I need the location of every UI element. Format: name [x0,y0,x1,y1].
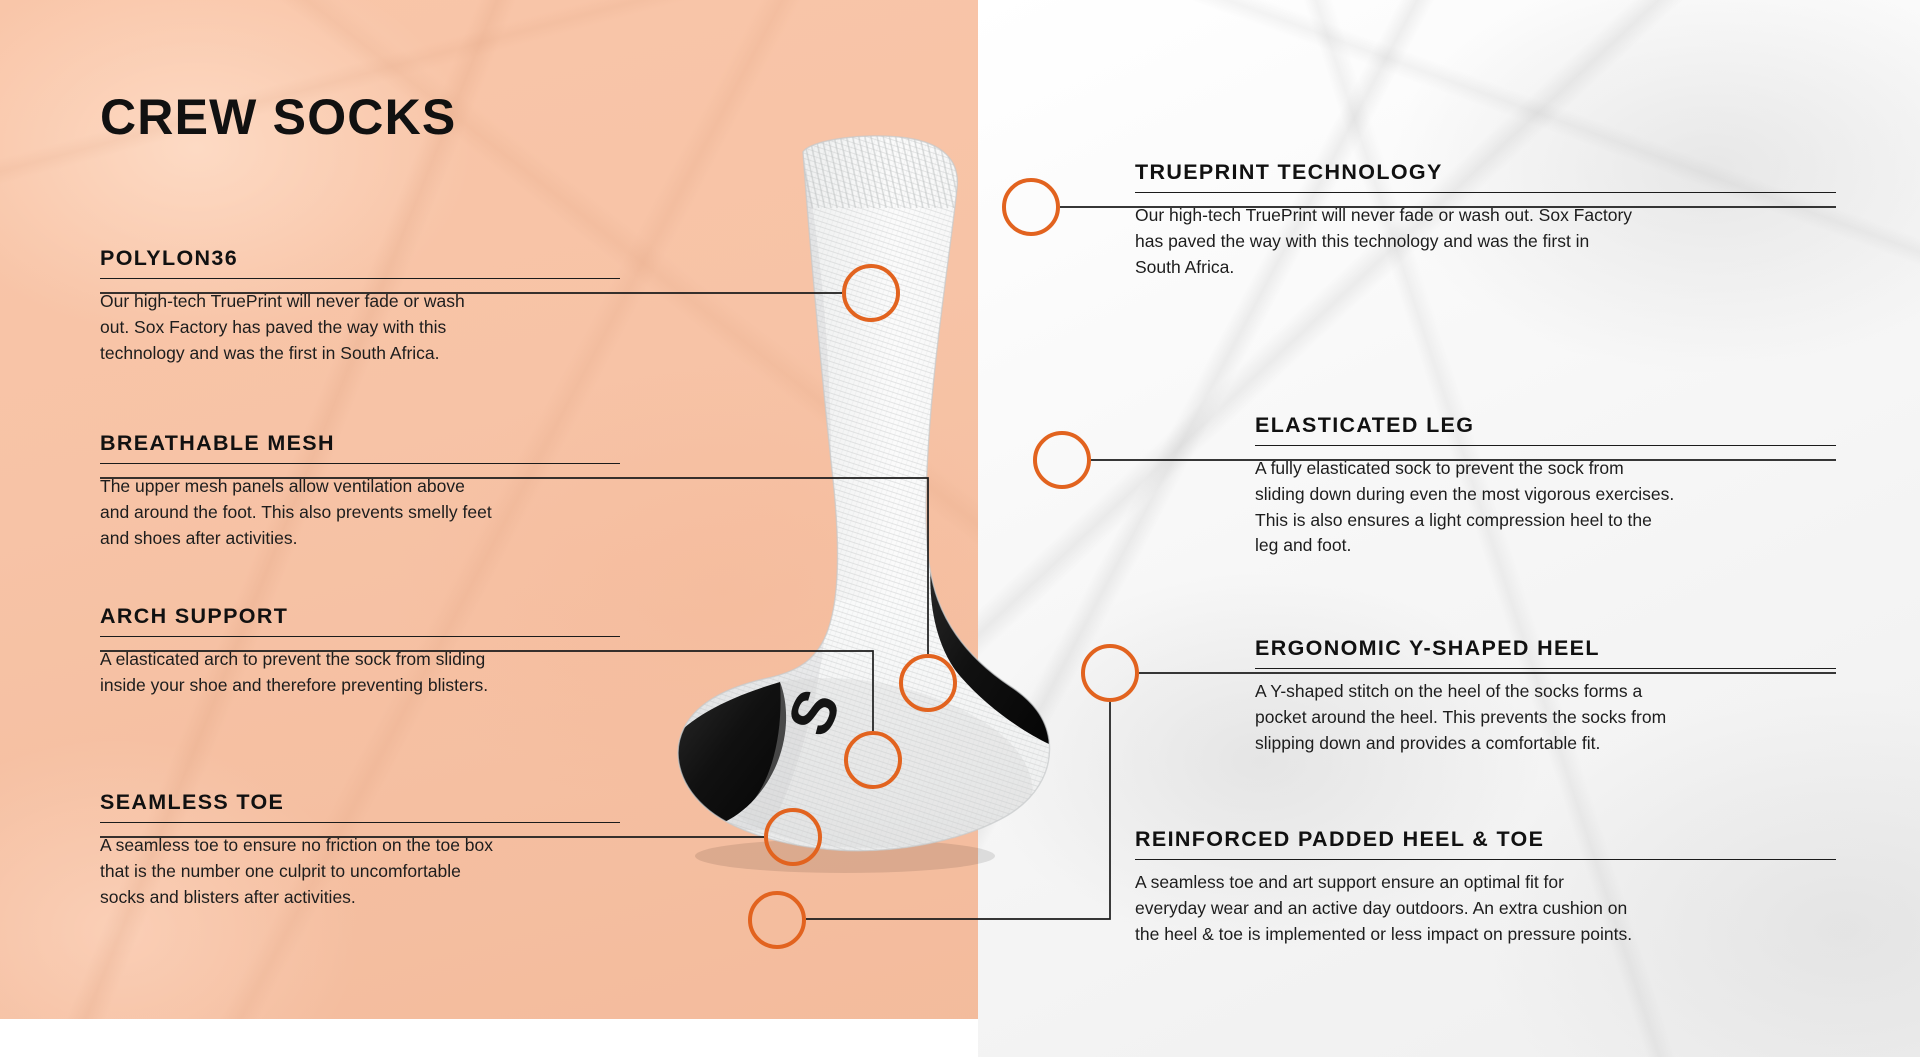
heading-rule [1135,859,1836,861]
feature-trueprint-technology: TRUEPRINT TECHNOLOGY Our high-tech TrueP… [1135,161,1836,280]
callout-trueprint-icon[interactable] [1002,178,1060,236]
feature-body: A seamless toe to ensure no friction on … [100,833,620,910]
callout-breathable-mesh-icon[interactable] [844,731,902,789]
feature-body: The upper mesh panels allow ventilation … [100,474,620,551]
heading-rule [100,822,620,824]
callout-arch-support-icon[interactable] [899,654,957,712]
feature-arch-support: ARCH SUPPORT A elasticated arch to preve… [100,605,620,699]
feature-breathable-mesh: BREATHABLE MESH The upper mesh panels al… [100,432,620,551]
heading-rule [100,278,620,280]
feature-seamless-toe: SEAMLESS TOE A seamless toe to ensure no… [100,791,620,910]
page-title: CREW SOCKS [100,92,456,142]
feature-heading: SEAMLESS TOE [100,791,620,815]
callout-y-heel-icon[interactable] [1081,644,1139,702]
feature-heading: ERGONOMIC Y-SHAPED HEEL [1255,637,1836,661]
infographic-canvas: S CREW SOCKS POLYLO [0,0,1920,1057]
feature-heading: POLYLON36 [100,247,620,271]
heading-rule [100,636,620,638]
feature-body: A elasticated arch to prevent the sock f… [100,647,620,698]
feature-polylon36: POLYLON36 Our high-tech TruePrint will n… [100,247,620,366]
feature-body: A Y-shaped stitch on the heel of the soc… [1255,679,1836,756]
feature-body: Our high-tech TruePrint will never fade … [100,289,620,366]
heading-rule [1255,668,1836,670]
feature-heading: ARCH SUPPORT [100,605,620,629]
feature-ergonomic-y-shaped-heel: ERGONOMIC Y-SHAPED HEEL A Y-shaped stitc… [1255,637,1836,756]
feature-elasticated-leg: ELASTICATED LEG A fully elasticated sock… [1255,414,1836,559]
callout-polylon36-icon[interactable] [842,264,900,322]
callout-seamless-toe-icon[interactable] [764,808,822,866]
feature-body: A seamless toe and art support ensure an… [1135,870,1836,947]
heading-rule [1255,445,1836,447]
feature-reinforced-padded-heel-toe: REINFORCED PADDED HEEL & TOE A seamless … [1135,828,1836,947]
bottom-white-strip [0,1019,978,1057]
callout-elasticated-leg-icon[interactable] [1033,431,1091,489]
heading-rule [100,463,620,465]
feature-heading: ELASTICATED LEG [1255,414,1836,438]
callout-padded-toe-icon[interactable] [748,891,806,949]
feature-heading: REINFORCED PADDED HEEL & TOE [1135,828,1836,852]
heading-rule [1135,192,1836,194]
feature-body: Our high-tech TruePrint will never fade … [1135,203,1836,280]
feature-heading: TRUEPRINT TECHNOLOGY [1135,161,1836,185]
feature-heading: BREATHABLE MESH [100,432,620,456]
feature-body: A fully elasticated sock to prevent the … [1255,456,1836,559]
